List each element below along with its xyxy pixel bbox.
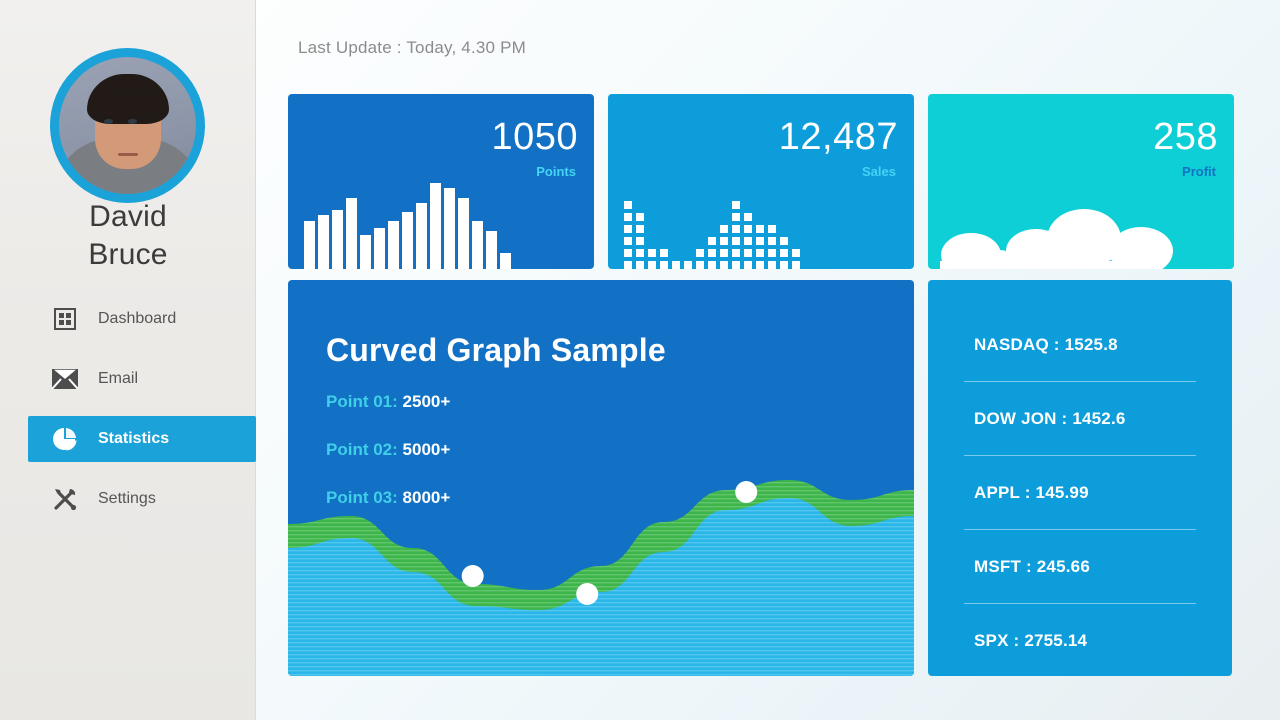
avatar-photo — [59, 57, 196, 194]
envelope-icon — [52, 366, 78, 392]
stocks-panel: NASDAQ : 1525.8 DOW JON : 1452.6 APPL : … — [928, 280, 1232, 676]
curved-graph-panel: Curved Graph Sample Point 01: 2500+ Poin… — [288, 280, 914, 676]
sidebar-item-settings[interactable]: Settings — [0, 476, 256, 522]
stat-card-value: 12,487 — [779, 116, 898, 158]
graph-point-row: Point 01: 2500+ — [326, 392, 450, 412]
avatar-mouth — [118, 153, 138, 156]
avatar-eye-right — [128, 119, 137, 124]
graph-point-label: Point 01: — [326, 392, 398, 411]
sidebar-item-dashboard[interactable]: Dashboard — [0, 296, 256, 342]
main-content: Last Update : Today, 4.30 PM 1050 Points — [256, 0, 1280, 720]
graph-marker — [576, 583, 598, 605]
stock-row[interactable]: APPL : 145.99 — [928, 456, 1232, 529]
dashboard-page: David Bruce Dashboard — [0, 0, 1280, 720]
graph-marker — [735, 481, 757, 503]
page-title: Curved Graph Sample — [326, 332, 666, 369]
graph-point-label: Point 02: — [326, 440, 398, 459]
stat-card-value: 1050 — [491, 116, 578, 158]
grid-icon — [52, 306, 78, 332]
stat-card-profit[interactable]: 258 Profit — [928, 94, 1234, 269]
cloud-shape-icon — [928, 177, 1234, 269]
avatar-eye-left — [104, 119, 113, 124]
sidebar-item-label: Settings — [98, 490, 156, 508]
sidebar-item-label: Statistics — [98, 430, 169, 448]
dot-matrix-chart-icon — [608, 177, 914, 269]
sidebar-item-label: Dashboard — [98, 310, 176, 328]
stat-card-points[interactable]: 1050 Points — [288, 94, 594, 269]
tools-icon — [52, 486, 78, 512]
sidebar-item-statistics[interactable]: Statistics — [28, 416, 256, 462]
stat-card-value: 258 — [1153, 116, 1218, 158]
stat-card-sales[interactable]: 12,487 Sales — [608, 94, 914, 269]
last-update-text: Last Update : Today, 4.30 PM — [298, 38, 526, 58]
sidebar-nav: Dashboard Email — [0, 296, 256, 536]
stat-cards-row: 1050 Points — [288, 94, 1248, 269]
stock-row[interactable]: DOW JON : 1452.6 — [928, 382, 1232, 455]
bar-chart-icon — [288, 177, 594, 269]
stock-row[interactable]: NASDAQ : 1525.8 — [928, 308, 1232, 381]
graph-marker — [462, 565, 484, 587]
graph-point-value: 5000+ — [403, 440, 451, 459]
stock-row[interactable]: MSFT : 245.66 — [928, 530, 1232, 603]
user-first-name: David — [0, 198, 256, 236]
stock-row[interactable]: SPX : 2755.14 — [928, 604, 1232, 677]
avatar-brow-left — [100, 111, 116, 114]
graph-point-row: Point 02: 5000+ — [326, 440, 450, 460]
user-name: David Bruce — [0, 198, 256, 274]
sidebar-item-label: Email — [98, 370, 138, 388]
avatar[interactable] — [50, 48, 205, 203]
avatar-brow-right — [124, 111, 140, 114]
pie-chart-icon — [52, 426, 78, 452]
graph-point-value: 2500+ — [403, 392, 451, 411]
sidebar-item-email[interactable]: Email — [0, 356, 256, 402]
sidebar: David Bruce Dashboard — [0, 0, 256, 720]
avatar-hair — [87, 74, 169, 124]
user-last-name: Bruce — [0, 236, 256, 274]
area-chart — [288, 466, 914, 676]
